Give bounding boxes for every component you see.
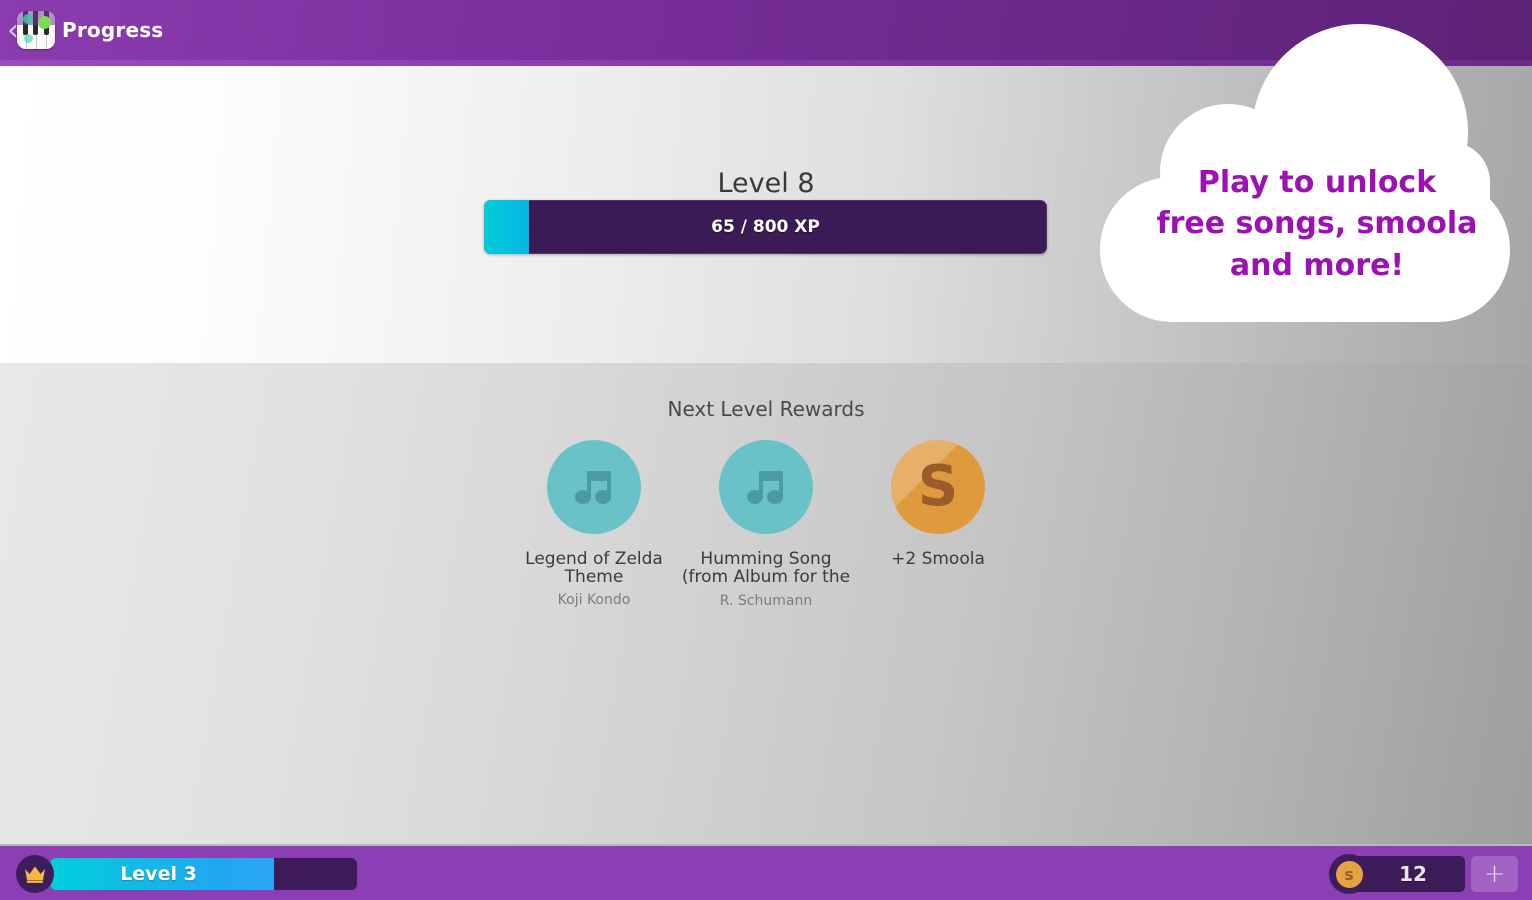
reward-item[interactable]: Humming Song (from Album for the Young) … (680, 440, 852, 609)
progress-screen: ‹ Progress Level 8 65 / 800 XP Next Leve… (0, 0, 1532, 900)
player-level-label: Level 3 (50, 858, 267, 890)
logo-accent-dot (23, 14, 33, 24)
page-title: Progress (62, 18, 163, 42)
promo-line-2: free songs, smoola (1152, 203, 1482, 244)
rewards-heading: Next Level Rewards (0, 397, 1532, 421)
reward-item[interactable]: Legend of Zelda Theme Koji Kondo (508, 440, 680, 608)
smoola-coin-icon: S (891, 440, 985, 534)
reward-item[interactable]: S +2 Smoola (852, 440, 1024, 574)
crown-icon (16, 855, 54, 893)
currency-count: 12 (1399, 862, 1427, 886)
music-note-icon (719, 440, 813, 534)
app-logo-icon[interactable] (17, 11, 55, 49)
coin-letter: S (918, 459, 958, 515)
reward-title: Legend of Zelda Theme (508, 550, 680, 587)
logo-accent-dot (38, 16, 51, 29)
xp-progress-bar: 65 / 800 XP (484, 200, 1047, 254)
add-currency-button[interactable]: + (1471, 856, 1518, 892)
promo-cloud-tooltip[interactable]: Play to unlock free songs, smoola and mo… (1100, 22, 1532, 322)
currency-balance[interactable]: s 12 (1343, 856, 1465, 892)
promo-line-3: and more! (1152, 245, 1482, 286)
reward-subtitle: Koji Kondo (508, 592, 680, 608)
reward-subtitle: R. Schumann (680, 593, 852, 609)
promo-cloud-text: Play to unlock free songs, smoola and mo… (1152, 162, 1482, 286)
xp-progress-label: 65 / 800 XP (484, 200, 1047, 254)
logo-accent-dot (24, 34, 33, 43)
promo-line-1: Play to unlock (1152, 162, 1482, 203)
reward-title: +2 Smoola (852, 550, 1024, 569)
smoola-coin-icon: s (1329, 854, 1369, 894)
reward-title: Humming Song (from Album for the Young) (680, 550, 852, 588)
currency-widget: s 12 + (1343, 856, 1518, 892)
music-note-icon (547, 440, 641, 534)
rewards-list: Legend of Zelda Theme Koji Kondo Humming… (0, 440, 1532, 609)
player-level-bar[interactable]: Level 3 (50, 858, 357, 890)
bottom-status-bar: Level 3 s 12 + (0, 844, 1532, 900)
coin-letter: s (1336, 861, 1363, 888)
